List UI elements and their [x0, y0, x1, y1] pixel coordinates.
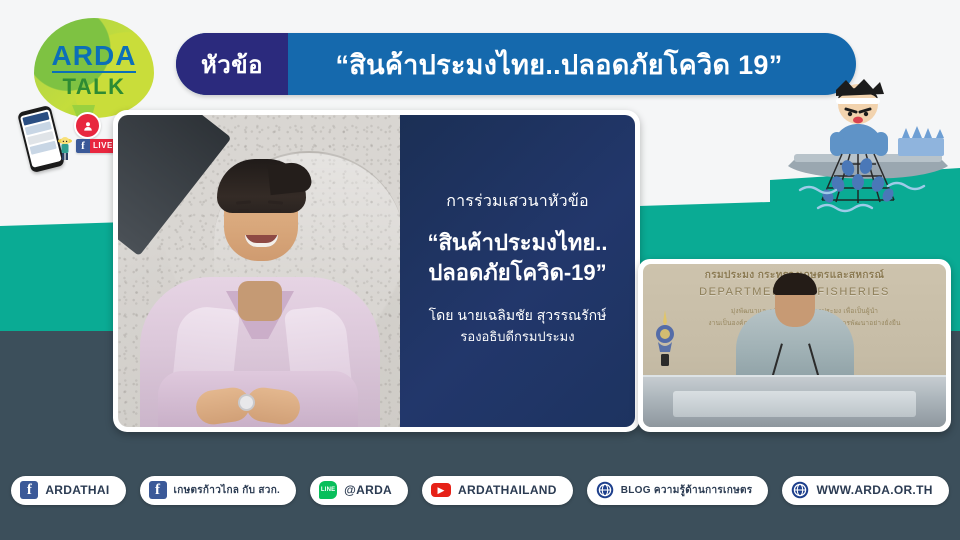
footer-label: เกษตรก้าวไกล กับ สวก. [174, 483, 281, 498]
globe-icon [791, 481, 809, 499]
speaker-hair [217, 159, 306, 213]
footer-link-line-arda[interactable]: LINE @ARDA [310, 476, 408, 505]
logo-divider [52, 71, 136, 73]
speaker-photo [118, 115, 400, 427]
panel-topic-line-2: ปลอดภัยโควิด-19” [427, 258, 607, 287]
footer-link-youtube-ardathailand[interactable]: ▶ ARDATHAILAND [422, 476, 573, 505]
panel-topic-line-1: “สินค้าประมงไทย.. [427, 228, 607, 257]
globe-icon [596, 481, 614, 499]
video-desk [643, 375, 946, 427]
facebook-icon: f [20, 481, 38, 499]
footer-social-bar: f ARDATHAI f เกษตรก้าวไกล กับ สวก. LINE … [0, 458, 960, 540]
logo-text-arda: ARDA [34, 40, 154, 72]
panel-topic-quote: “สินค้าประมงไทย.. ปลอดภัยโควิด-19” [427, 228, 607, 286]
header-topic-pill: หัวข้อ [176, 33, 288, 95]
youtube-icon: ▶ [431, 483, 451, 497]
footer-label: ARDATHAI [45, 483, 109, 497]
footer-link-facebook-kaset[interactable]: f เกษตรก้าวไกล กับ สวก. [140, 476, 297, 505]
line-icon: LINE [319, 481, 337, 499]
royal-emblem-icon [653, 308, 677, 370]
speaker-eye-left [238, 209, 249, 213]
footer-label: ARDATHAILAND [458, 483, 557, 497]
footer-label: BLOG ความรู้ด้านการเกษตร [621, 483, 753, 498]
logo-text-talk: TALK [34, 74, 154, 100]
panel-lead-text: การร่วมเสวนาหัวข้อ [446, 189, 589, 214]
footer-link-blog[interactable]: BLOG ความรู้ด้านการเกษตร [587, 476, 769, 505]
speaker-eye-right [270, 209, 281, 213]
panel-speaker-role: รองอธิบดีกรมประมง [460, 326, 574, 347]
footer-link-website[interactable]: WWW.ARDA.OR.TH [782, 476, 948, 505]
footer-label: @ARDA [344, 483, 392, 497]
card-info-panel: การร่วมเสวนาหัวข้อ “สินค้าประมงไทย.. ปลอ… [400, 115, 635, 427]
broadcast-icon [74, 112, 101, 139]
facebook-live-badge: f LIVE [76, 139, 116, 153]
live-label: LIVE [90, 139, 116, 153]
header-banner: หัวข้อ “สินค้าประมงไทย..ปลอดภัยโควิด 19” [176, 33, 856, 95]
footer-label: WWW.ARDA.OR.TH [816, 483, 932, 497]
main-speaker-card: การร่วมเสวนาหัวข้อ “สินค้าประมงไทย.. ปลอ… [113, 110, 640, 432]
footer-link-facebook-ardathai[interactable]: f ARDATHAI [11, 476, 125, 505]
secondary-video-card[interactable]: กรมประมง กระทรวงเกษตรและสหกรณ์ DEPARTMEN… [638, 259, 951, 432]
fisherman-illustration [770, 62, 960, 227]
facebook-icon: f [76, 139, 90, 153]
farmer-mascot-icon [57, 136, 73, 162]
speaker-wristwatch [238, 394, 255, 411]
facebook-icon: f [149, 481, 167, 499]
slide-stage: ARDA TALK f LIVE [0, 0, 960, 540]
panel-speaker-name: โดย นายเฉลิมชัย สุวรรณรักษ์ [429, 305, 607, 326]
smartphone-screen [20, 109, 62, 168]
video-feed: กรมประมง กระทรวงเกษตรและสหกรณ์ DEPARTMEN… [643, 264, 946, 427]
speaker-neck [238, 281, 282, 321]
